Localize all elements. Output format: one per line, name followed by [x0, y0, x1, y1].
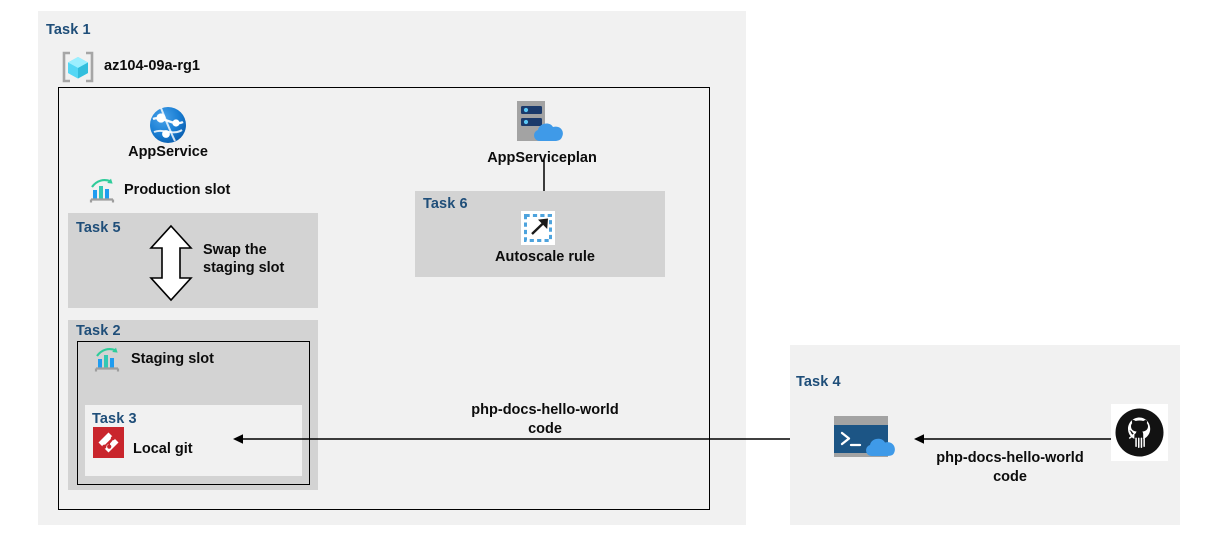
- task6-label: Task 6: [423, 196, 468, 212]
- autoscale-icon: [521, 211, 555, 245]
- task1-label: Task 1: [46, 22, 91, 38]
- github-to-shell-arrow: [912, 431, 1112, 447]
- shell-to-git-arrow: [231, 431, 823, 447]
- staging-slot-label: Staging slot: [131, 350, 214, 368]
- task2-label: Task 2: [76, 323, 121, 339]
- resource-group-name: az104-09a-rg1: [104, 57, 200, 75]
- github-octocat-icon: [1111, 404, 1168, 461]
- appservice-globe-icon: [148, 105, 188, 145]
- task3-label: Task 3: [92, 411, 137, 427]
- task5-label: Task 5: [76, 220, 121, 236]
- swap-double-arrow-icon: [147, 224, 195, 302]
- deployment-slot-icon: [89, 178, 115, 202]
- autoscale-label: Autoscale rule: [470, 248, 620, 266]
- task4-label: Task 4: [796, 374, 841, 390]
- resource-group-icon: [60, 51, 96, 83]
- git-icon: [93, 427, 124, 458]
- app-service-plan-icon: [513, 99, 571, 149]
- production-slot-label: Production slot: [124, 181, 230, 199]
- local-git-label: Local git: [133, 440, 193, 458]
- github-edge-label: php-docs-hello-world code: [910, 449, 1110, 487]
- cloud-shell-icon: [832, 414, 900, 459]
- deployment-slot-icon: [94, 347, 120, 371]
- task5-text: Swap the staging slot: [203, 241, 284, 277]
- appservice-label: AppService: [120, 143, 216, 161]
